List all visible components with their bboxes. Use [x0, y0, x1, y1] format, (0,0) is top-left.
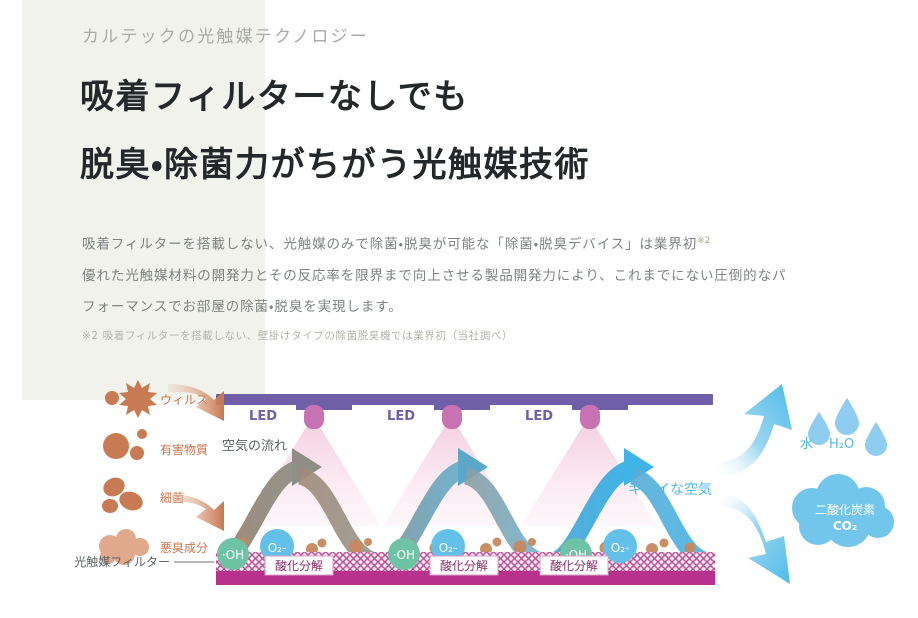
led-label-1: LED: [249, 409, 277, 424]
filter-label: 光触媒フィルター: [74, 554, 170, 569]
page-title-line-1: 吸着フィルターなしでも: [80, 80, 469, 114]
oxidation-label-2: 酸化分解: [440, 559, 488, 573]
oxidation-label-1: 酸化分解: [275, 559, 323, 573]
led-label-3: LED: [525, 409, 553, 424]
led-label-2: LED: [387, 409, 415, 424]
led-units: [296, 405, 628, 429]
legend-bacteria-icon: [100, 474, 145, 513]
page-title-line-2: 脱臭・除菌力がちがう光触媒技術: [80, 148, 590, 182]
legend-label-harmful: 有害物質: [160, 442, 208, 457]
airflow-label: 空気の流れ: [222, 438, 287, 454]
oxidation-label-3: 酸化分解: [550, 559, 598, 573]
co2-label: 二酸化炭素: [815, 503, 875, 517]
led-labels: LED LED LED: [249, 409, 553, 424]
clean-air-label: キレイな空気: [628, 482, 712, 498]
radical-o2-label-2: O₂-: [439, 541, 458, 555]
water-label: 水: [800, 437, 813, 452]
body-line-3: フォーマンスでお部屋の除菌・脱臭を実現します。: [82, 299, 403, 315]
legend-particle-icon: [103, 429, 147, 460]
body-line-2: 優れた光触媒材料の開発力とその反応率を限界まで向上させる製品開発力により、これま…: [82, 268, 786, 284]
radical-oh-label-1: ·OH: [222, 548, 244, 562]
page-root: カルテックの光触媒テクノロジー 吸着フィルターなしでも 脱臭・除菌力がちがう光触…: [0, 0, 918, 618]
photocatalyst-diagram: LED LED LED ウィルス 有害物質 細菌 悪臭成分: [0, 366, 918, 618]
footnote-text: ※2 吸着フィルターを搭載しない、壁掛けタイプの除菌脱臭機では業界初（当社調べ）: [82, 328, 513, 343]
eyebrow-text: カルテックの光触媒テクノロジー: [82, 22, 369, 47]
body-line-1: 吸着フィルターを搭載しない、光触媒のみで除菌・脱臭が可能な「除菌・脱臭デバイス」…: [82, 237, 697, 253]
footnote-marker: ※2: [697, 236, 710, 246]
co2-formula: CO₂: [833, 519, 857, 533]
water-formula: H₂O: [829, 437, 854, 452]
radical-oh-label-2: ·OH: [393, 548, 415, 562]
clean-air-outflow-arrows: [716, 384, 792, 584]
body-paragraph: 吸着フィルターを搭載しない、光触媒のみで除菌・脱臭が可能な「除菌・脱臭デバイス」…: [82, 226, 882, 323]
radical-o2-label-1: O₂-: [268, 541, 287, 555]
radical-o2-label-3: O₂-: [611, 541, 630, 555]
oxidation-labels: 酸化分解 酸化分解 酸化分解: [265, 556, 608, 575]
legend-label-odor: 悪臭成分: [160, 541, 208, 555]
led-mounting-bar: [216, 394, 713, 405]
legend-virus-icon: [105, 380, 157, 418]
